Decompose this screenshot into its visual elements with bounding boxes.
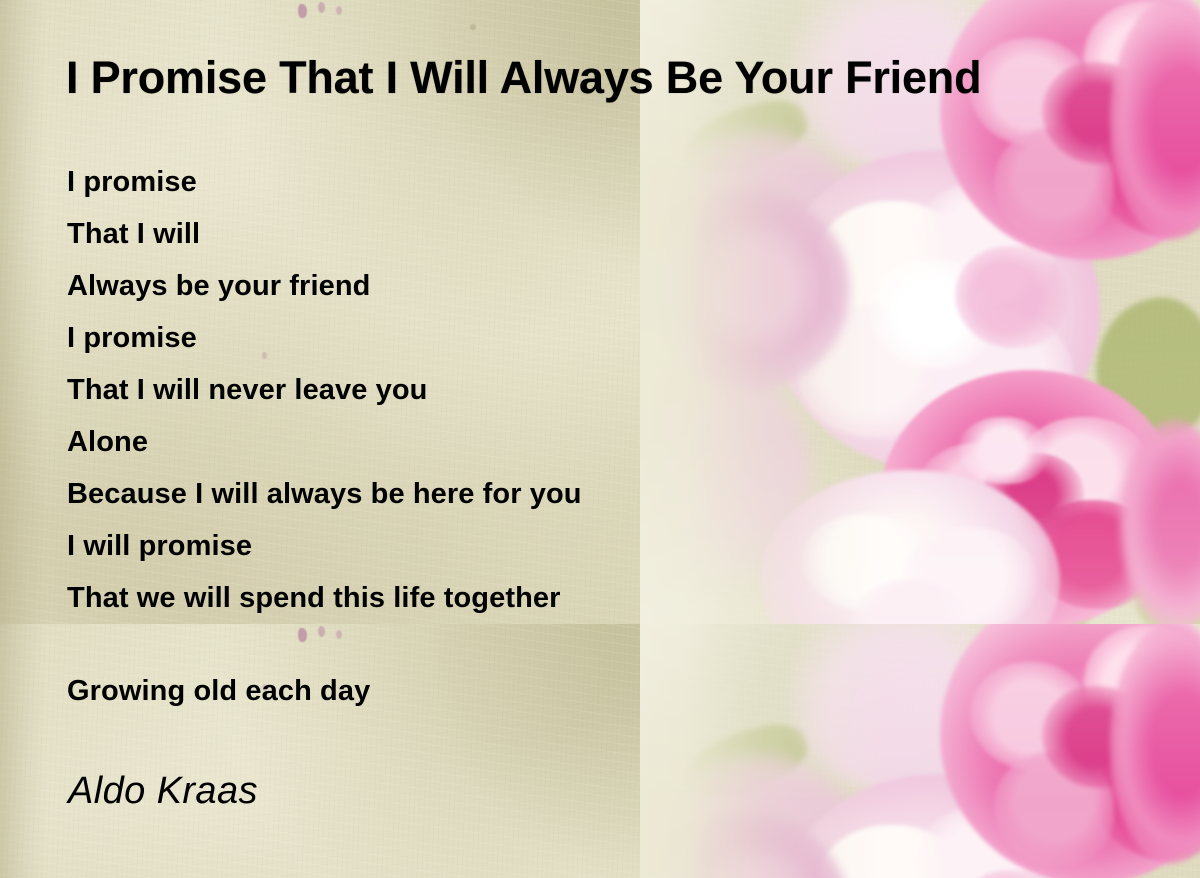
poem-line: I promise [67, 312, 787, 364]
poem-stanza-two: Growing old each day [67, 666, 370, 716]
poem-line: Alone [67, 416, 787, 468]
poem-line: Because I will always be here for you [67, 468, 787, 520]
poem-author: Aldo Kraas [68, 770, 258, 813]
poem-text-layer: I Promise That I Will Always Be Your Fri… [0, 0, 1200, 878]
poem-line: Always be your friend [67, 260, 787, 312]
poem-line: That I will never leave you [67, 364, 787, 416]
poem-line: I promise [67, 156, 787, 208]
poem-line: Growing old each day [67, 666, 370, 716]
poem-card: I Promise That I Will Always Be Your Fri… [0, 0, 1200, 878]
poem-line: That I will [67, 208, 787, 260]
poem-stanza-one: I promise That I will Always be your fri… [67, 156, 787, 624]
poem-line: That we will spend this life together [67, 572, 787, 624]
poem-line: I will promise [67, 520, 787, 572]
page-title: I Promise That I Will Always Be Your Fri… [66, 52, 981, 104]
